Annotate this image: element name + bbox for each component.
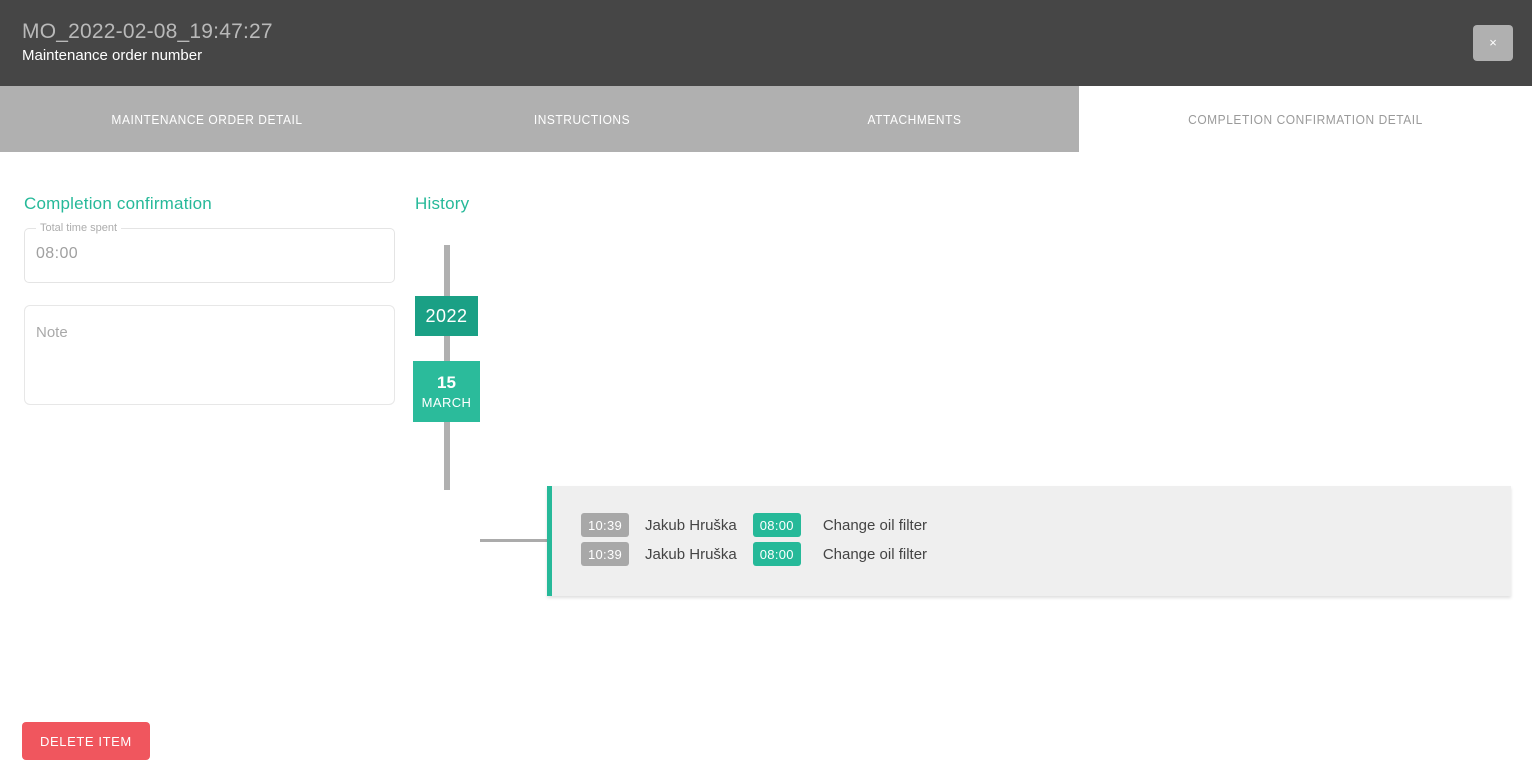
timeline-date-marker: 15 MARCH: [413, 361, 480, 422]
tab-completion-confirmation-detail[interactable]: COMPLETION CONFIRMATION DETAIL: [1097, 86, 1514, 152]
close-icon[interactable]: ×: [1473, 25, 1513, 61]
tab-bar: MAINTENANCE ORDER DETAIL INSTRUCTIONS AT…: [0, 86, 1532, 152]
entry-user: Jakub Hruška: [645, 517, 737, 534]
tab-attachments[interactable]: ATTACHMENTS: [763, 86, 1066, 152]
total-time-spent-value: 08:00: [36, 245, 78, 263]
entry-duration-badge: 08:00: [753, 513, 801, 537]
history-heading: History: [415, 194, 469, 214]
timeline-month: MARCH: [422, 394, 472, 412]
completion-confirmation-heading: Completion confirmation: [24, 194, 212, 214]
note-input[interactable]: Note: [24, 305, 395, 405]
timeline-connector: [480, 539, 548, 542]
dialog-header: MO_2022-02-08_19:47:27 Maintenance order…: [0, 0, 1532, 86]
timeline-day: 15: [437, 372, 456, 394]
page-title: MO_2022-02-08_19:47:27: [22, 19, 273, 44]
maintenance-order-dialog: MO_2022-02-08_19:47:27 Maintenance order…: [0, 0, 1532, 762]
entry-user: Jakub Hruška: [645, 546, 737, 563]
header-titles: MO_2022-02-08_19:47:27 Maintenance order…: [22, 19, 273, 66]
entry-task: Change oil filter: [823, 517, 927, 534]
history-card: 10:39 Jakub Hruška 08:00 Change oil filt…: [547, 486, 1511, 596]
entry-duration-badge: 08:00: [753, 542, 801, 566]
history-entry-row[interactable]: 10:39 Jakub Hruška 08:00 Change oil filt…: [581, 542, 927, 566]
entry-time-badge: 10:39: [581, 513, 629, 537]
page-subtitle: Maintenance order number: [22, 46, 273, 66]
tab-instructions[interactable]: INSTRUCTIONS: [427, 86, 736, 152]
tab-panel-completion-confirmation: Completion confirmation Total time spent…: [0, 152, 1532, 762]
entry-task: Change oil filter: [823, 546, 927, 563]
entry-time-badge: 10:39: [581, 542, 629, 566]
total-time-spent-label: Total time spent: [36, 221, 121, 235]
history-entry-row[interactable]: 10:39 Jakub Hruška 08:00 Change oil filt…: [581, 513, 927, 537]
delete-item-button[interactable]: DELETE ITEM: [22, 722, 150, 760]
note-placeholder: Note: [36, 324, 68, 341]
timeline-year-marker: 2022: [415, 296, 478, 336]
total-time-spent-field[interactable]: Total time spent 08:00: [24, 228, 395, 283]
tab-maintenance-order-detail[interactable]: MAINTENANCE ORDER DETAIL: [17, 86, 398, 152]
